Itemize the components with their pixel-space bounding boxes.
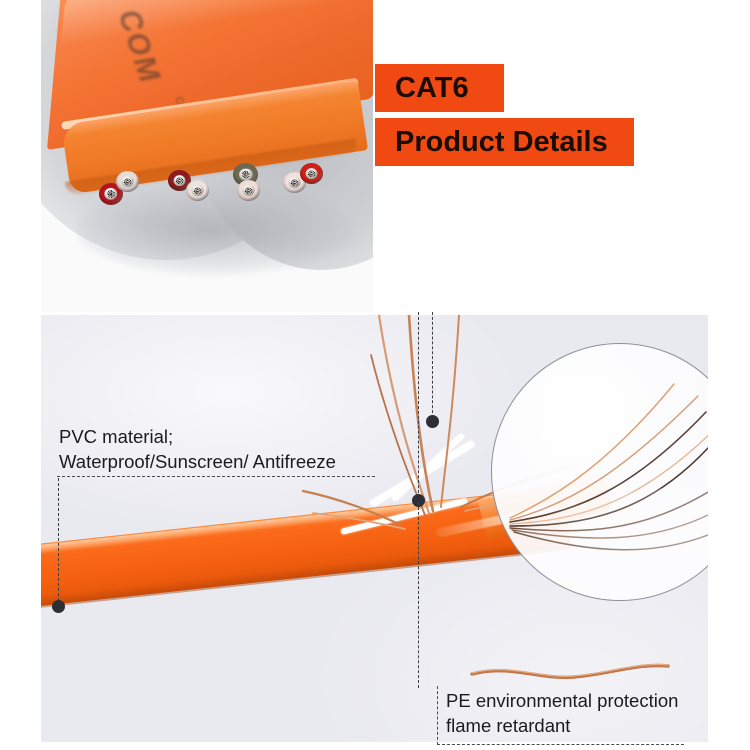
exposed-strand-4 [441,315,459,507]
conductor-core [121,176,134,188]
conductor-core [191,185,204,197]
leader-line-strand-top [432,312,433,418]
top-photo-panel: COM CAT6 [41,0,373,312]
conductor-core [173,175,186,187]
annotation-underline-rule [57,476,375,477]
leader-line-pvc [58,478,59,606]
annotation-pvc-material: PVC material; Waterproof/Sunscreen/ Anti… [59,424,336,474]
conductor-8 [300,163,323,184]
banner-product-details: Product Details [375,118,634,166]
conductor-6 [237,180,260,201]
leader-line-pe [418,312,419,498]
conductor-core [288,177,301,189]
exposed-strand-2 [379,315,429,513]
banner-cat6: CAT6 [375,64,504,112]
exposed-strand-5 [303,491,401,525]
callout-dot-jacket [52,600,65,613]
annotation-pvc-line1: PVC material; [59,424,336,449]
leader-line-pe-lower [418,502,419,688]
callout-dot-strand-top [426,415,439,428]
annotation-pvc-line2: Waterproof/Sunscreen/ Antifreeze [59,449,336,474]
conductor-2 [116,171,139,192]
conductor-core [239,168,253,181]
single-copper-wire-sample [470,660,670,682]
annotation-pe-flame-retardant: PE environmental protection flame retard… [437,686,684,745]
magnifier-circle [491,343,708,601]
annotation-pe-line2: flame retardant [446,713,678,738]
conductor-core [242,185,255,197]
product-detail-image: COM CAT6 CAT6 Product Details [0,0,750,750]
conductor-core [104,188,117,200]
conductor-4 [186,180,209,201]
conductor-core [305,168,318,180]
bottom-photo-panel [41,315,708,742]
flat-cable-photo: COM CAT6 [41,0,373,312]
annotation-pe-line1: PE environmental protection [446,688,678,713]
exposed-strand-3 [371,355,425,515]
